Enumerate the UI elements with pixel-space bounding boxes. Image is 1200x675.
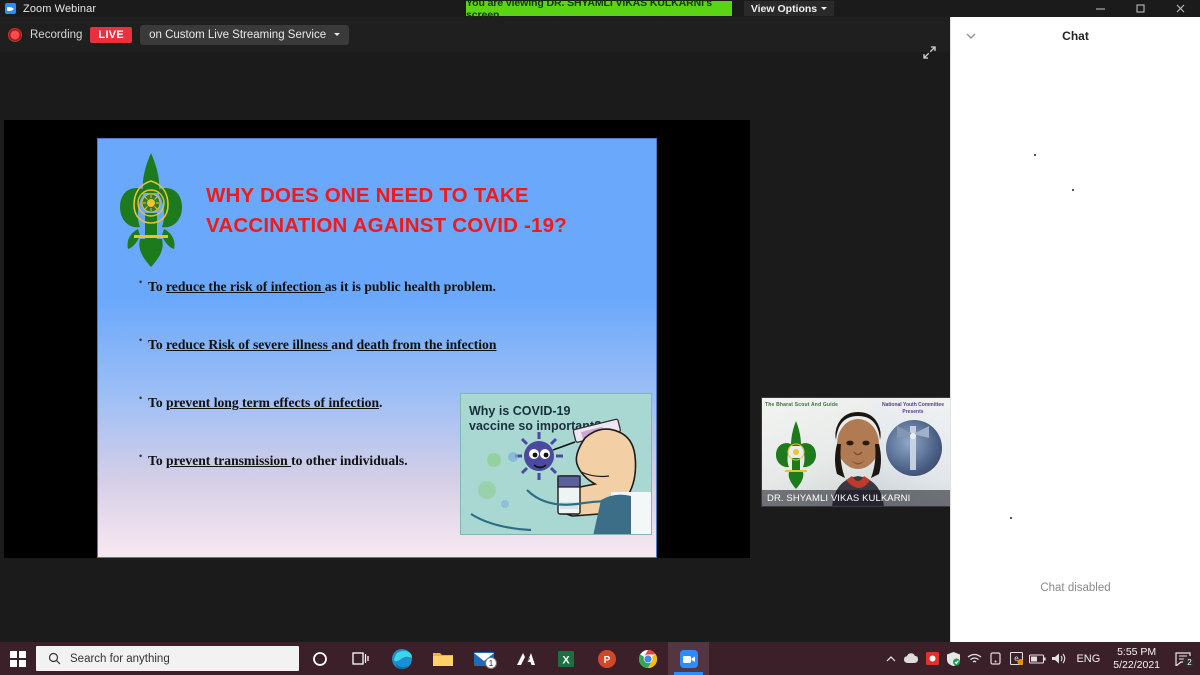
chat-artifact — [1072, 189, 1074, 191]
bullet-key-phrase-2: death from the infection — [357, 337, 497, 352]
system-tray: e ENG 5:55 PM 5/22/2021 — [880, 642, 1200, 675]
title-bar: Zoom Webinar You are viewing DR. SHYAMLI… — [0, 0, 1200, 17]
fullscreen-button[interactable] — [916, 39, 942, 65]
close-button[interactable] — [1160, 0, 1200, 17]
chat-artifact — [1034, 154, 1036, 156]
shared-screen-area: WHY DOES ONE NEED TO TAKE VACCINATION AG… — [4, 120, 750, 558]
bullet-suffix: to other individuals. — [291, 453, 407, 468]
search-icon — [48, 652, 61, 665]
chat-message-list[interactable] — [951, 55, 1200, 574]
taskbar-app-mail-icon[interactable]: 1 — [463, 642, 504, 675]
wifi-icon[interactable] — [964, 642, 985, 675]
notification-icon[interactable]: 2 — [1166, 642, 1200, 675]
bullet-key-phrase: reduce Risk of severe illness — [166, 337, 331, 352]
security-shield-icon[interactable] — [943, 642, 964, 675]
taskbar-app-edge-icon[interactable] — [381, 642, 422, 675]
taskbar-app-adobe-icon[interactable] — [504, 642, 545, 675]
notification-badge-count: 2 — [1183, 656, 1196, 669]
battery-icon[interactable] — [1027, 642, 1048, 675]
bullet-suffix: and — [331, 337, 356, 352]
vaccine-vial-icon — [558, 476, 580, 514]
zoom-main-area: Recording LIVE on Custom Live Streaming … — [0, 17, 950, 642]
device-icon[interactable] — [985, 642, 1006, 675]
chevron-down-icon — [821, 7, 827, 10]
stream-target-dropdown[interactable]: on Custom Live Streaming Service — [140, 25, 349, 45]
chevron-up-icon[interactable] — [880, 642, 901, 675]
taskbar-app-zoom-icon[interactable] — [668, 642, 709, 675]
svg-text:P: P — [603, 655, 610, 666]
zoom-webinar-window: Zoom Webinar You are viewing DR. SHYAMLI… — [0, 0, 1200, 675]
chat-header: Chat — [951, 17, 1200, 55]
bullet-suffix: . — [379, 395, 382, 410]
update-icon[interactable]: e — [1006, 642, 1027, 675]
slide-title: WHY DOES ONE NEED TO TAKE VACCINATION AG… — [206, 181, 636, 241]
chevron-down-icon — [334, 33, 340, 36]
bullet-key-phrase: prevent transmission — [166, 453, 291, 468]
recording-bar: Recording LIVE on Custom Live Streaming … — [0, 17, 950, 52]
app-title: Zoom Webinar — [23, 3, 96, 15]
zoom-icon — [5, 3, 16, 14]
scout-fleur-de-lis-emblem — [774, 420, 818, 490]
participant-name-label: DR. SHYAMLI VIKAS KULKARNI — [762, 490, 950, 506]
search-input[interactable]: Search for anything — [36, 646, 299, 671]
taskbar-app-excel-icon[interactable]: X — [545, 642, 586, 675]
scout-fleur-de-lis-emblem — [116, 151, 186, 269]
chat-artifact — [1010, 517, 1012, 519]
chat-title: Chat — [1062, 29, 1089, 43]
minimize-button[interactable] — [1080, 0, 1120, 17]
background-text-right-line1: National Youth Committee — [882, 402, 944, 409]
language-indicator[interactable]: ENG — [1069, 653, 1107, 665]
taskbar-app-chrome-icon[interactable] — [627, 642, 668, 675]
presenter-video-thumbnail[interactable]: The Bharat Scout And Guide National Yout… — [761, 397, 951, 507]
view-options-button[interactable]: View Options — [744, 1, 834, 16]
clock-time: 5:55 PM — [1113, 646, 1160, 659]
mail-badge-count: 1 — [485, 657, 497, 669]
bullet-prefix: To — [148, 395, 166, 410]
clock[interactable]: 5:55 PM 5/22/2021 — [1107, 646, 1166, 672]
maximize-button[interactable] — [1120, 0, 1160, 17]
taskbar-app-powerpoint-icon[interactable]: P — [586, 642, 627, 675]
background-text-left: The Bharat Scout And Guide — [765, 402, 838, 408]
bullet-prefix: To — [148, 453, 166, 468]
recording-indicator-icon[interactable] — [8, 28, 22, 42]
clock-date: 5/22/2021 — [1113, 659, 1160, 672]
bullet-key-phrase: prevent long term effects of infection — [166, 395, 379, 410]
live-badge: LIVE — [90, 27, 132, 43]
slide-title-line2: VACCINATION AGAINST COVID -19? — [206, 211, 636, 241]
cortana-icon[interactable] — [299, 642, 340, 675]
window-controls — [1080, 0, 1200, 17]
list-item: To reduce the risk of infection as it is… — [148, 279, 657, 295]
svg-text:X: X — [562, 654, 570, 666]
task-view-icon[interactable] — [340, 642, 381, 675]
bullet-prefix: To — [148, 337, 166, 352]
bullet-suffix: as it is public health problem. — [325, 279, 496, 294]
taskbar-app-file-explorer-icon[interactable] — [422, 642, 463, 675]
slide-title-line1: WHY DOES ONE NEED TO TAKE — [206, 181, 636, 211]
virus-icon — [515, 432, 563, 480]
presentation-slide: WHY DOES ONE NEED TO TAKE VACCINATION AG… — [97, 138, 657, 558]
list-item: To reduce Risk of severe illness and dea… — [148, 337, 657, 353]
bullet-key-phrase: reduce the risk of infection — [166, 279, 325, 294]
bullet-prefix: To — [148, 279, 166, 294]
onedrive-icon[interactable] — [901, 642, 922, 675]
stream-target-label: on Custom Live Streaming Service — [149, 29, 326, 41]
recording-app-icon[interactable] — [922, 642, 943, 675]
start-button[interactable] — [0, 642, 36, 675]
chat-panel: Chat Chat disabled — [950, 17, 1200, 642]
view-options-label: View Options — [751, 3, 817, 15]
vaccine-illustration: Why is COVID-19 vaccine so important? — [460, 393, 652, 535]
viewing-screen-banner: You are viewing DR. SHYAMLI VIKAS KULKAR… — [466, 1, 732, 16]
chat-disabled-status: Chat disabled — [951, 582, 1200, 594]
volume-icon[interactable] — [1048, 642, 1069, 675]
search-placeholder: Search for anything — [70, 653, 170, 665]
recording-label: Recording — [30, 29, 82, 41]
slide-header: WHY DOES ONE NEED TO TAKE VACCINATION AG… — [98, 139, 656, 271]
chevron-down-icon[interactable] — [963, 29, 979, 43]
